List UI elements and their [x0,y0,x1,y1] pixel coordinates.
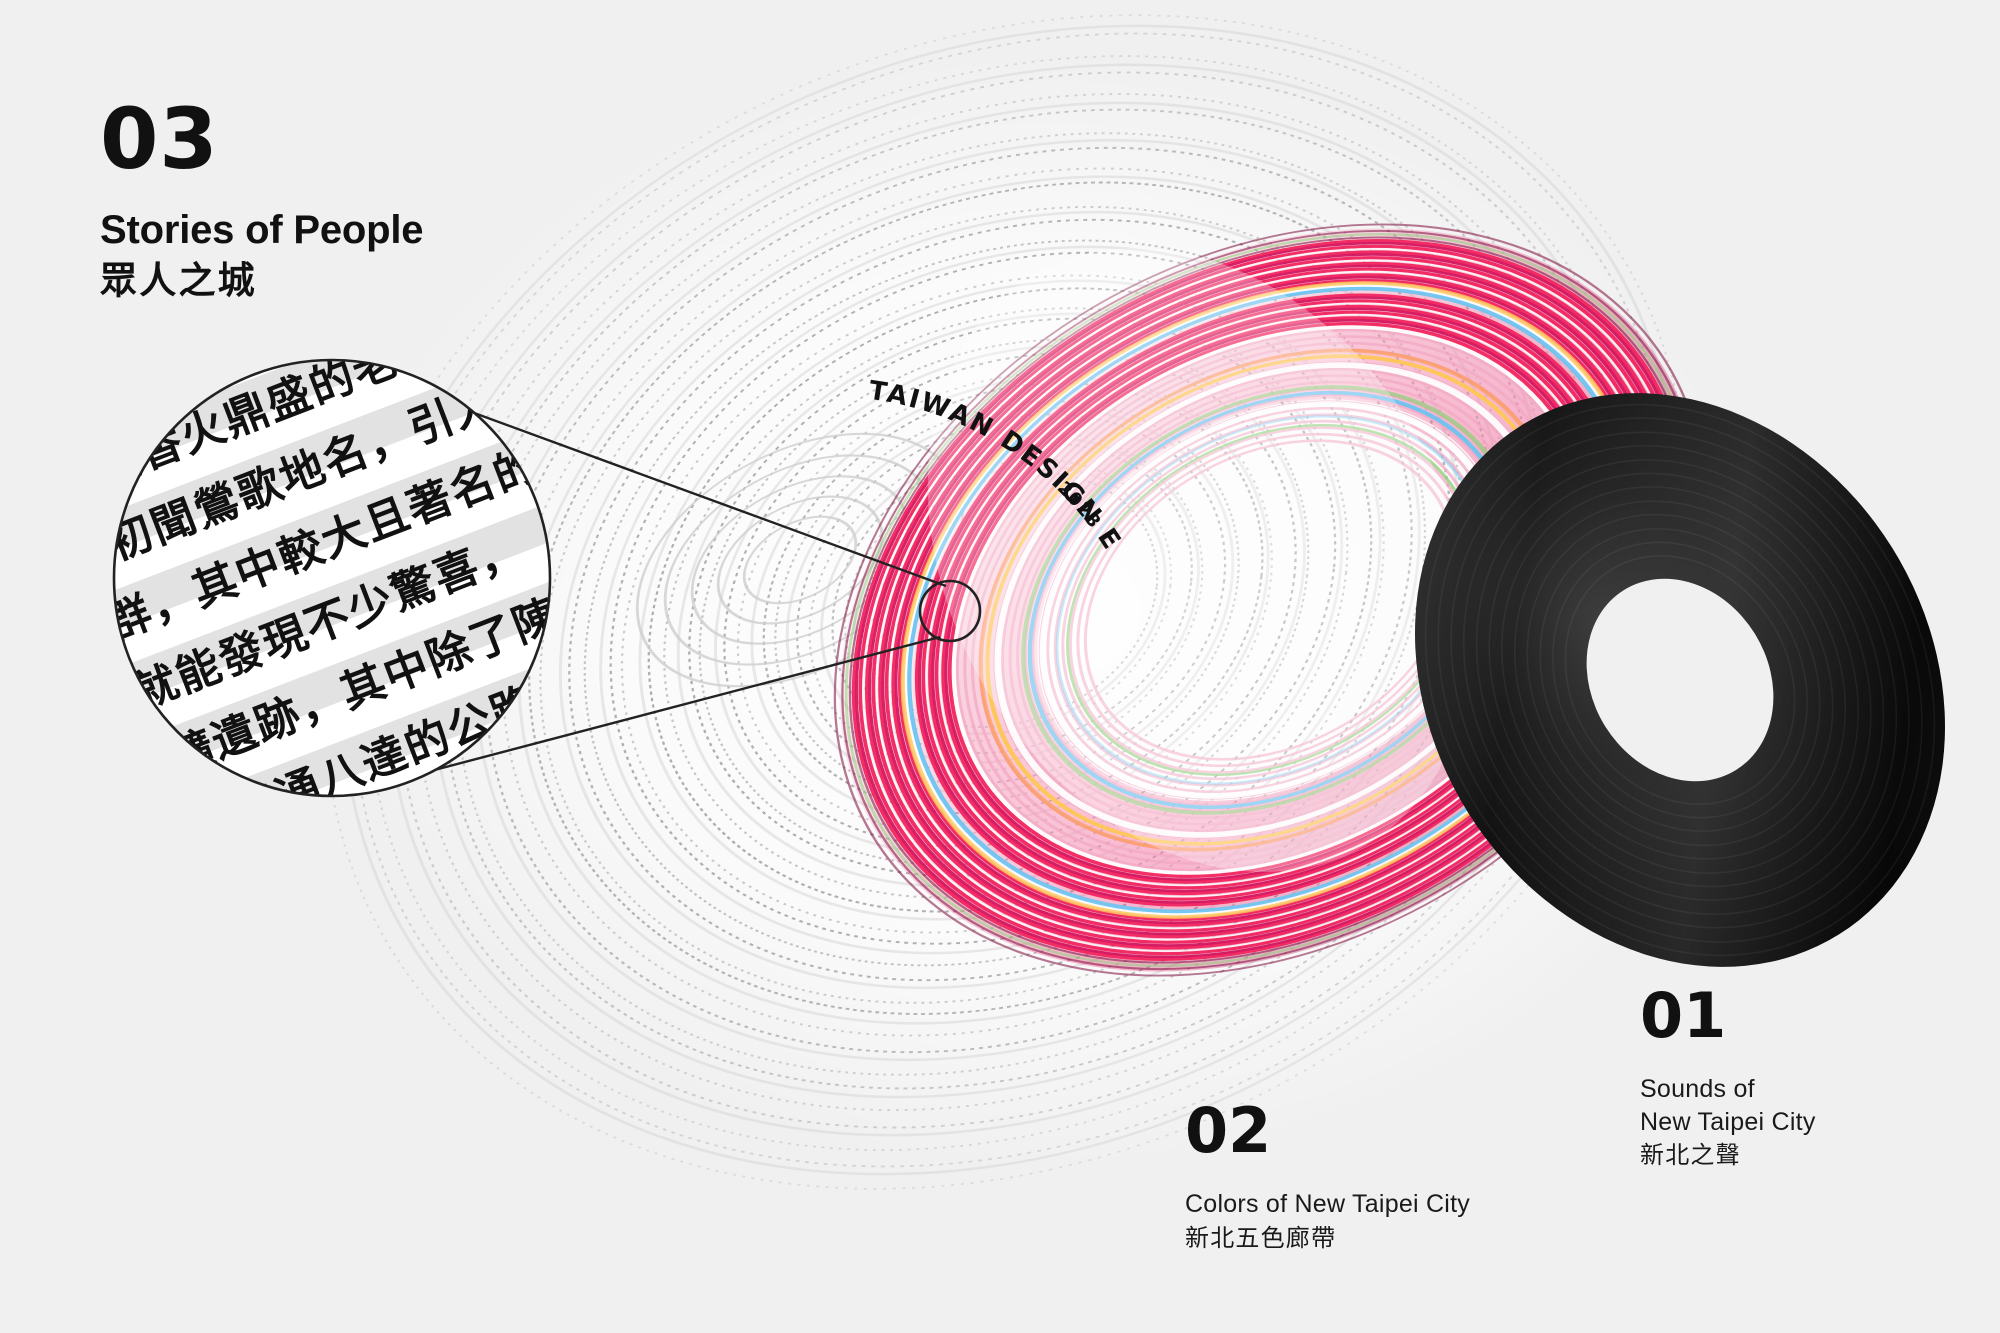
caption-number-01: 01 [1640,985,1816,1047]
caption-title-en-01-line1: Sounds of [1640,1073,1816,1106]
headline-title-zh: 眾人之城 [100,258,423,304]
headline-title-en: Stories of People [100,208,423,252]
headline-number: 03 [100,100,423,180]
headline-block: 03 Stories of People 眾人之城 [100,100,423,304]
caption-number-02: 02 [1185,1100,1470,1162]
poster-canvas: 讓香火鼎盛的老廟 。初聞鶯歌地名，引人 布群，其中較大且著名的 ，就能發現不少驚… [0,0,2000,1333]
caption-title-en-02: Colors of New Taipei City [1185,1188,1470,1221]
caption-block-02: 02 Colors of New Taipei City 新北五色廊帶 [1185,1100,1470,1255]
caption-block-01: 01 Sounds of New Taipei City 新北之聲 [1640,985,1816,1172]
caption-title-zh-02: 新北五色廊帶 [1185,1223,1470,1255]
caption-title-zh-01: 新北之聲 [1640,1140,1816,1172]
caption-title-en-01-line2: New Taipei City [1640,1106,1816,1139]
